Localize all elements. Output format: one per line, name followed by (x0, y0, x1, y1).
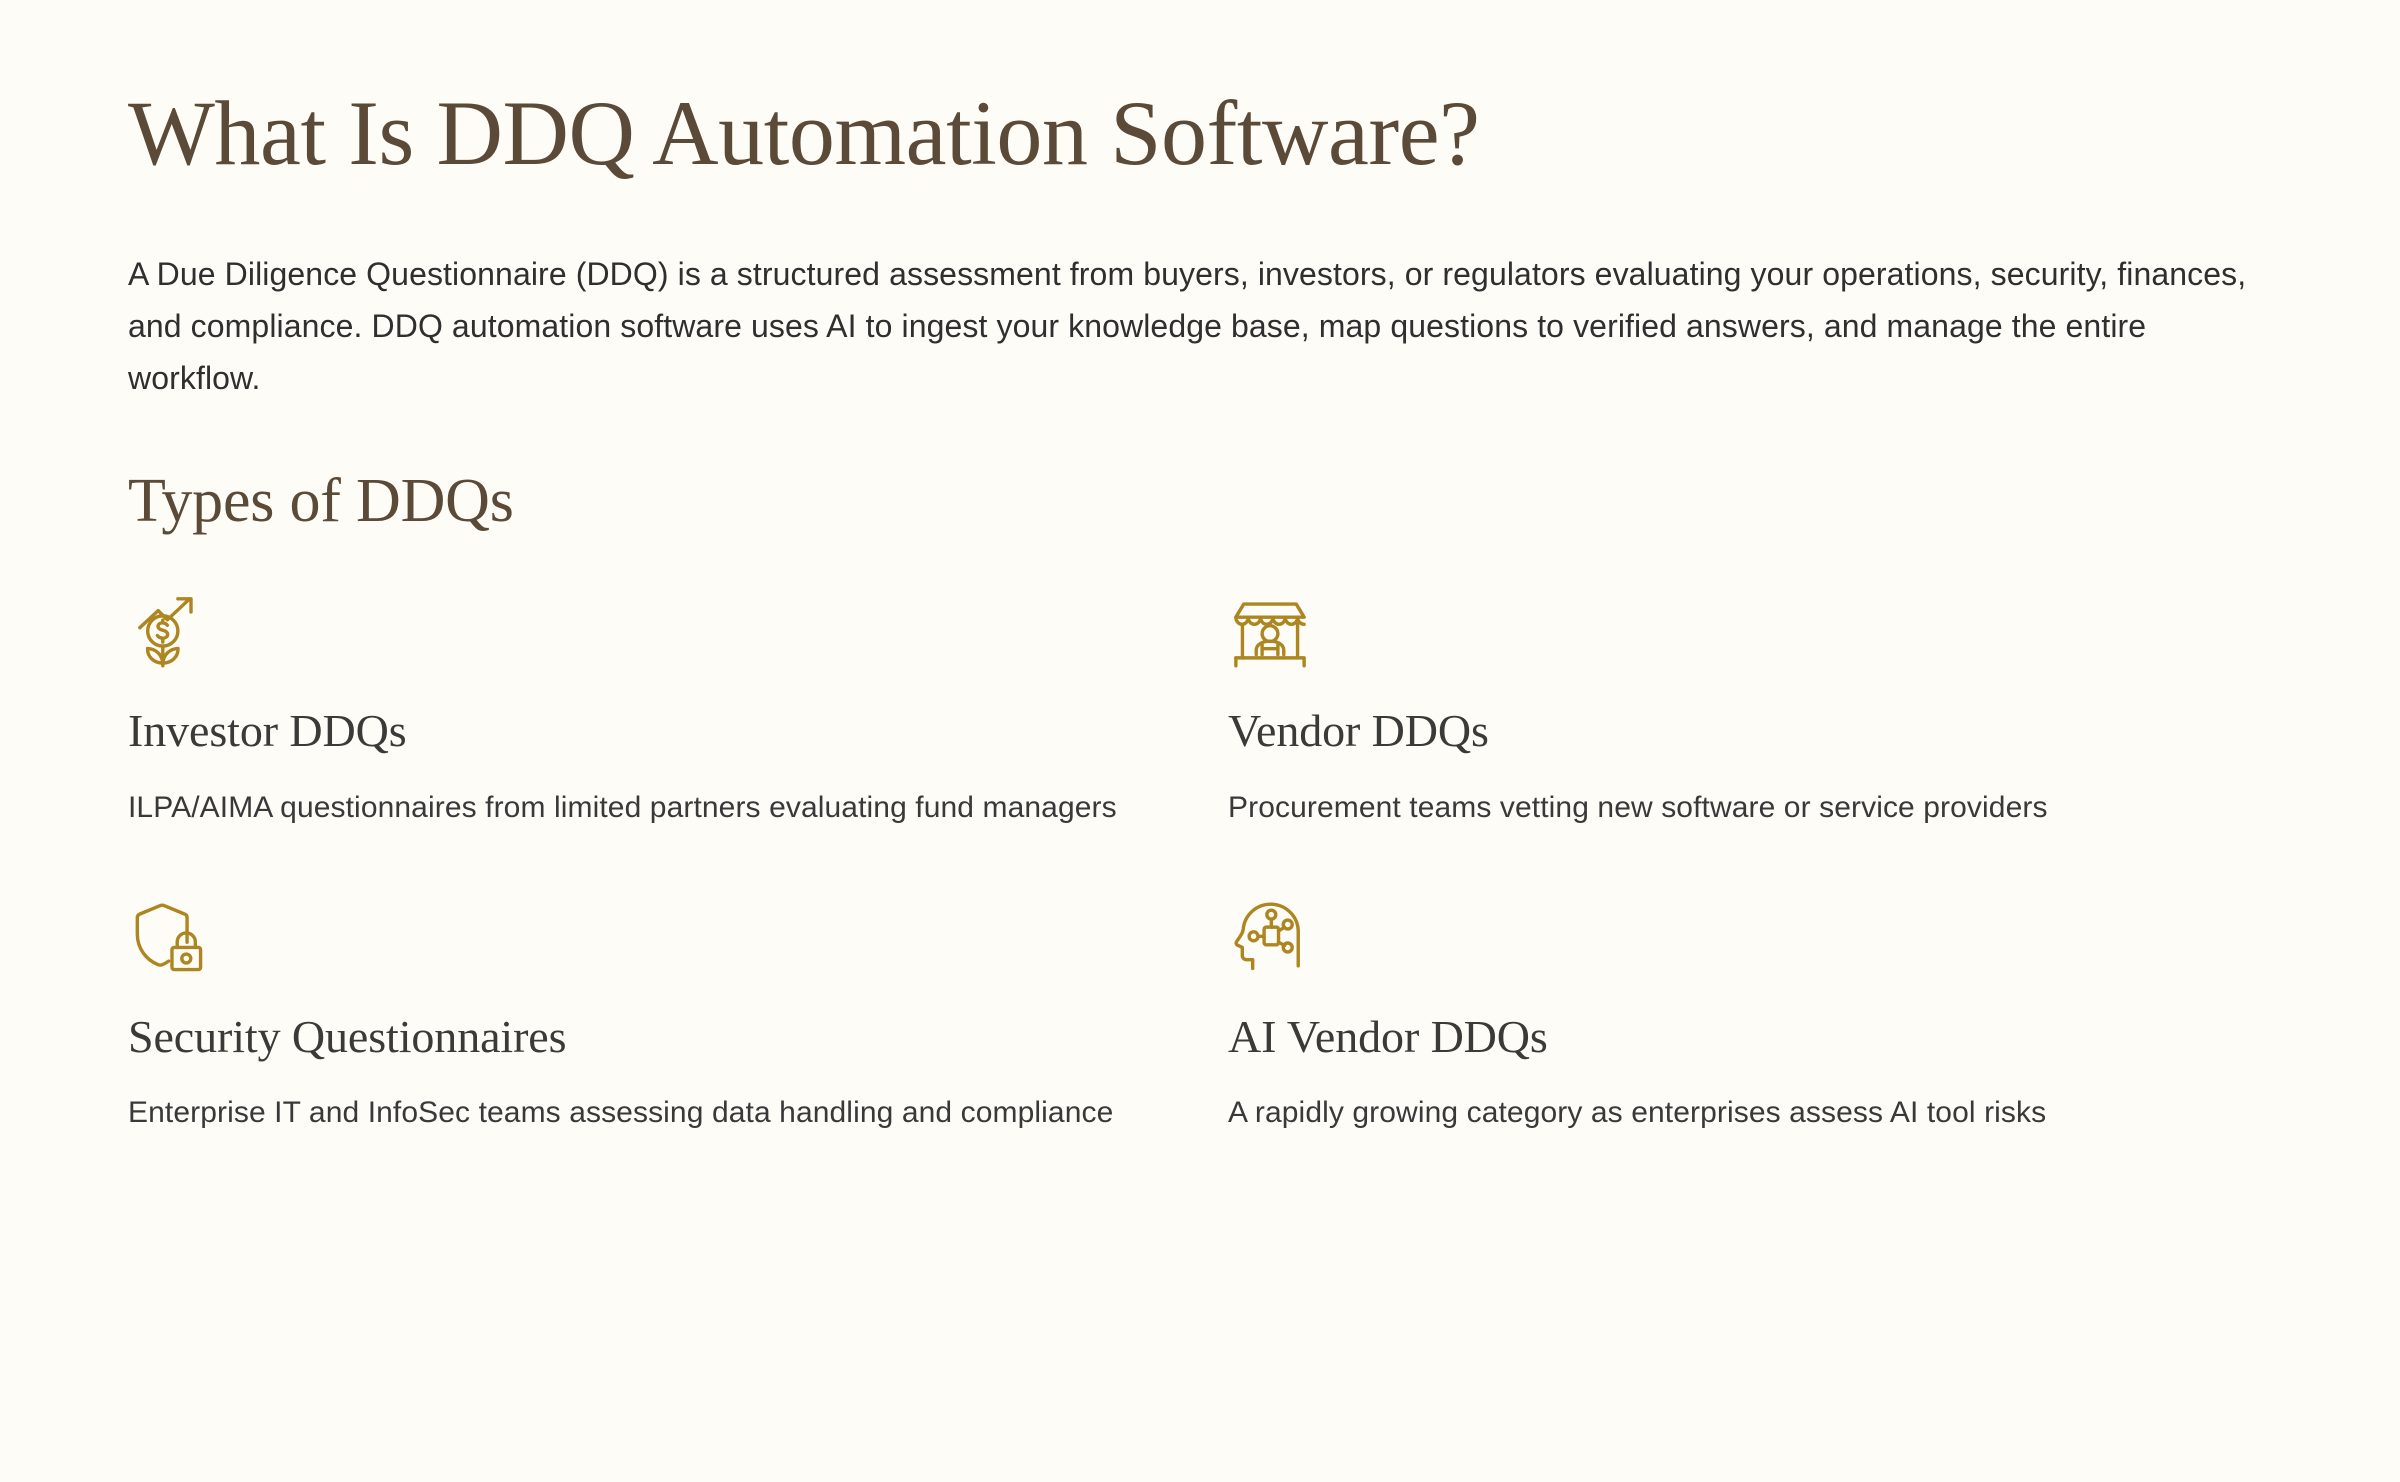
page-root: What Is DDQ Automation Software? A Due D… (0, 0, 2400, 1482)
type-card-title: Vendor DDQs (1228, 705, 2268, 758)
money-plant-growth-icon (128, 587, 212, 671)
type-card-description: A rapidly growing category as enterprise… (1228, 1089, 2238, 1138)
type-card-security-questionnaires: Security Questionnaires Enterprise IT an… (128, 893, 1168, 1138)
ai-head-chip-icon (1228, 893, 1312, 977)
type-card-description: Procurement teams vetting new software o… (1228, 784, 2238, 833)
shield-lock-icon (128, 893, 212, 977)
section-title-types-of-ddqs: Types of DDQs (128, 467, 2272, 535)
type-card-ai-vendor-ddqs: AI Vendor DDQs A rapidly growing categor… (1228, 893, 2268, 1138)
type-card-title: Security Questionnaires (128, 1011, 1168, 1064)
types-grid: Investor DDQs ILPA/AIMA questionnaires f… (128, 587, 2272, 1138)
type-card-investor-ddqs: Investor DDQs ILPA/AIMA questionnaires f… (128, 587, 1168, 832)
market-stall-vendor-icon (1228, 587, 1312, 671)
type-card-description: Enterprise IT and InfoSec teams assessin… (128, 1089, 1138, 1138)
intro-paragraph: A Due Diligence Questionnaire (DDQ) is a… (128, 249, 2272, 404)
type-card-title: AI Vendor DDQs (1228, 1011, 2268, 1064)
type-card-vendor-ddqs: Vendor DDQs Procurement teams vetting ne… (1228, 587, 2268, 832)
type-card-title: Investor DDQs (128, 705, 1168, 758)
page-title: What Is DDQ Automation Software? (128, 0, 2272, 183)
type-card-description: ILPA/AIMA questionnaires from limited pa… (128, 784, 1138, 833)
